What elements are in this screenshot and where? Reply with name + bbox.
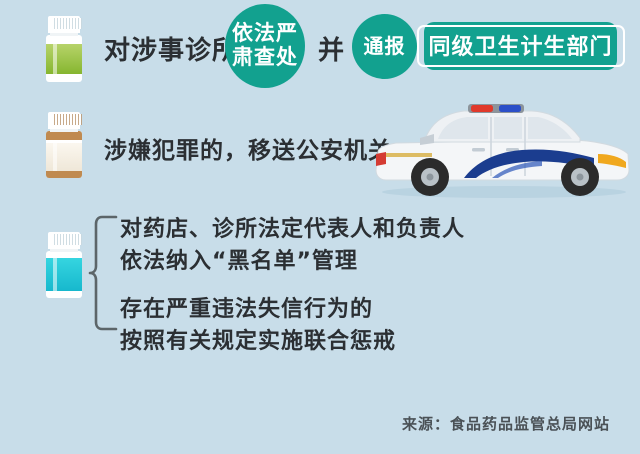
bottle-cap [48,112,80,129]
circle-line-1: 通报 [364,35,406,57]
car-lightbar-red [471,105,493,112]
car-rear-window-1 [494,117,522,139]
car-rear-wheel [411,158,449,196]
row-3-block-1-line-2: 依法纳入“黑名单”管理 [120,246,465,278]
car-taillight [376,152,386,166]
bottle-cap [48,16,80,33]
bottle-base-band [46,171,82,178]
bottle-label [46,143,82,171]
car-lightbar-blue [499,105,521,112]
infographic-page: { "page": { "background_color": "#c8dde9… [0,0,640,454]
row-1-lead-text: 对涉事诊所 [104,30,239,67]
bottle-cap [48,232,80,249]
source-credit: 来源：食品药品监管总局网站 [402,413,610,434]
bottle-label [46,258,82,291]
badge-label: 同级卫生计生部门 [417,25,625,67]
row-3-block-2-line-1: 存在严重违法失信行为的 [120,294,396,326]
police-car-illustration [372,96,634,204]
bottle-body [46,35,82,82]
circle-line-1: 依法严 [232,22,298,46]
row-3-block-2: 存在严重违法失信行为的 按照有关规定实施联合惩戒 [120,294,396,358]
bottle-cap-ribs [54,234,82,245]
bottle-shine [53,37,57,79]
circle-strict-investigation[interactable]: 依法严 肃查处 [225,4,305,88]
row-3-block-1: 对药店、诊所法定代表人和负责人 依法纳入“黑名单”管理 [120,214,465,278]
bottle-body [46,251,82,298]
circle-line-2: 肃查处 [232,46,298,70]
circle-report[interactable]: 通报 [352,14,417,79]
row-3-block-1-line-1: 对药店、诊所法定代表人和负责人 [120,214,465,246]
curly-brace [88,214,118,336]
badge-health-department[interactable]: 同级卫生计生部门 [424,22,617,70]
bottle-shine [53,253,57,295]
row-2-text: 涉嫌犯罪的，移送公安机关 [104,131,392,165]
bottle-cap-ribs [54,18,82,29]
bottle-label [46,44,82,74]
row-3-block-2-line-2: 按照有关规定实施联合惩戒 [120,326,396,358]
bottle-cap-ribs [54,114,82,125]
row-1-connector-text: 并 [318,30,345,67]
pill-bottle-orange-icon [44,112,84,178]
car-front-wheel [561,158,599,196]
pill-bottle-cyan-icon [44,232,84,298]
bottle-top-band [46,131,82,140]
pill-bottle-green-icon [44,16,84,82]
